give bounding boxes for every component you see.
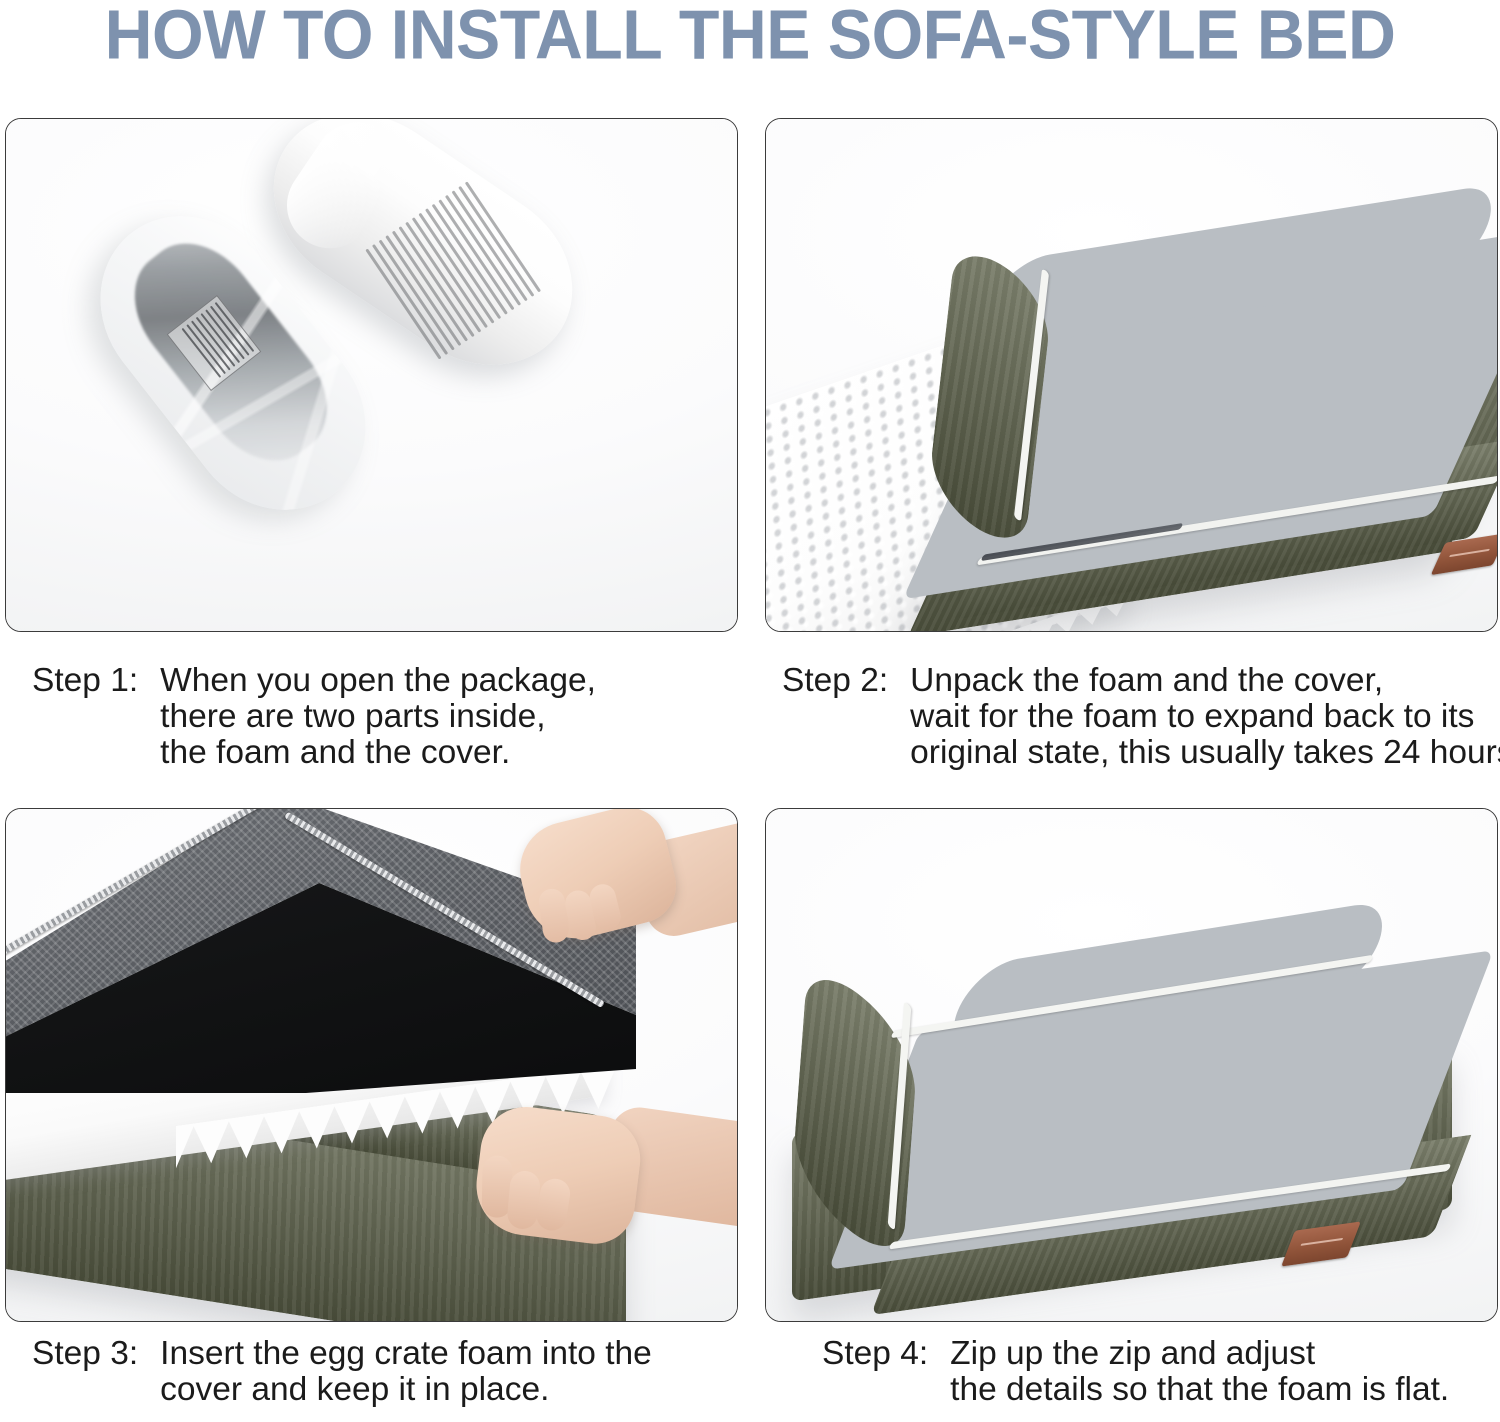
step-3-text: Insert the egg crate foam into the cover… <box>160 1336 652 1408</box>
hand-lower <box>471 1102 645 1249</box>
step-4-text: Zip up the zip and adjust the details so… <box>950 1336 1449 1408</box>
step-2-label: Step 2: <box>782 663 888 699</box>
step-1-text: When you open the package, there are two… <box>160 663 596 771</box>
finished-sofa-bed <box>778 919 1478 1299</box>
step-1-caption: Step 1: When you open the package, there… <box>32 663 596 771</box>
step-2-photo <box>765 118 1498 632</box>
step-2-text: Unpack the foam and the cover, wait for … <box>910 663 1500 771</box>
step-3-label: Step 3: <box>32 1336 138 1372</box>
step-2-caption: Step 2: Unpack the foam and the cover, w… <box>782 663 1498 771</box>
step-4-caption: Step 4: Zip up the zip and adjust the de… <box>822 1336 1449 1408</box>
step-4-label: Step 4: <box>822 1336 928 1372</box>
step-3-photo <box>5 808 738 1322</box>
sofa-bed-cover <box>924 221 1498 591</box>
steps-grid: Step 1: When you open the package, there… <box>0 0 1500 1422</box>
step-4-photo <box>765 808 1498 1322</box>
step-1-label: Step 1: <box>32 663 138 699</box>
step-3-caption: Step 3: Insert the egg crate foam into t… <box>32 1336 652 1408</box>
step-3-cell: Step 3: Insert the egg crate foam into t… <box>5 808 738 1322</box>
step-2-cell: Step 2: Unpack the foam and the cover, w… <box>765 118 1498 632</box>
step-4-cell: Step 4: Zip up the zip and adjust the de… <box>765 808 1498 1322</box>
step-1-cell: Step 1: When you open the package, there… <box>5 118 738 632</box>
step-1-photo <box>5 118 738 632</box>
